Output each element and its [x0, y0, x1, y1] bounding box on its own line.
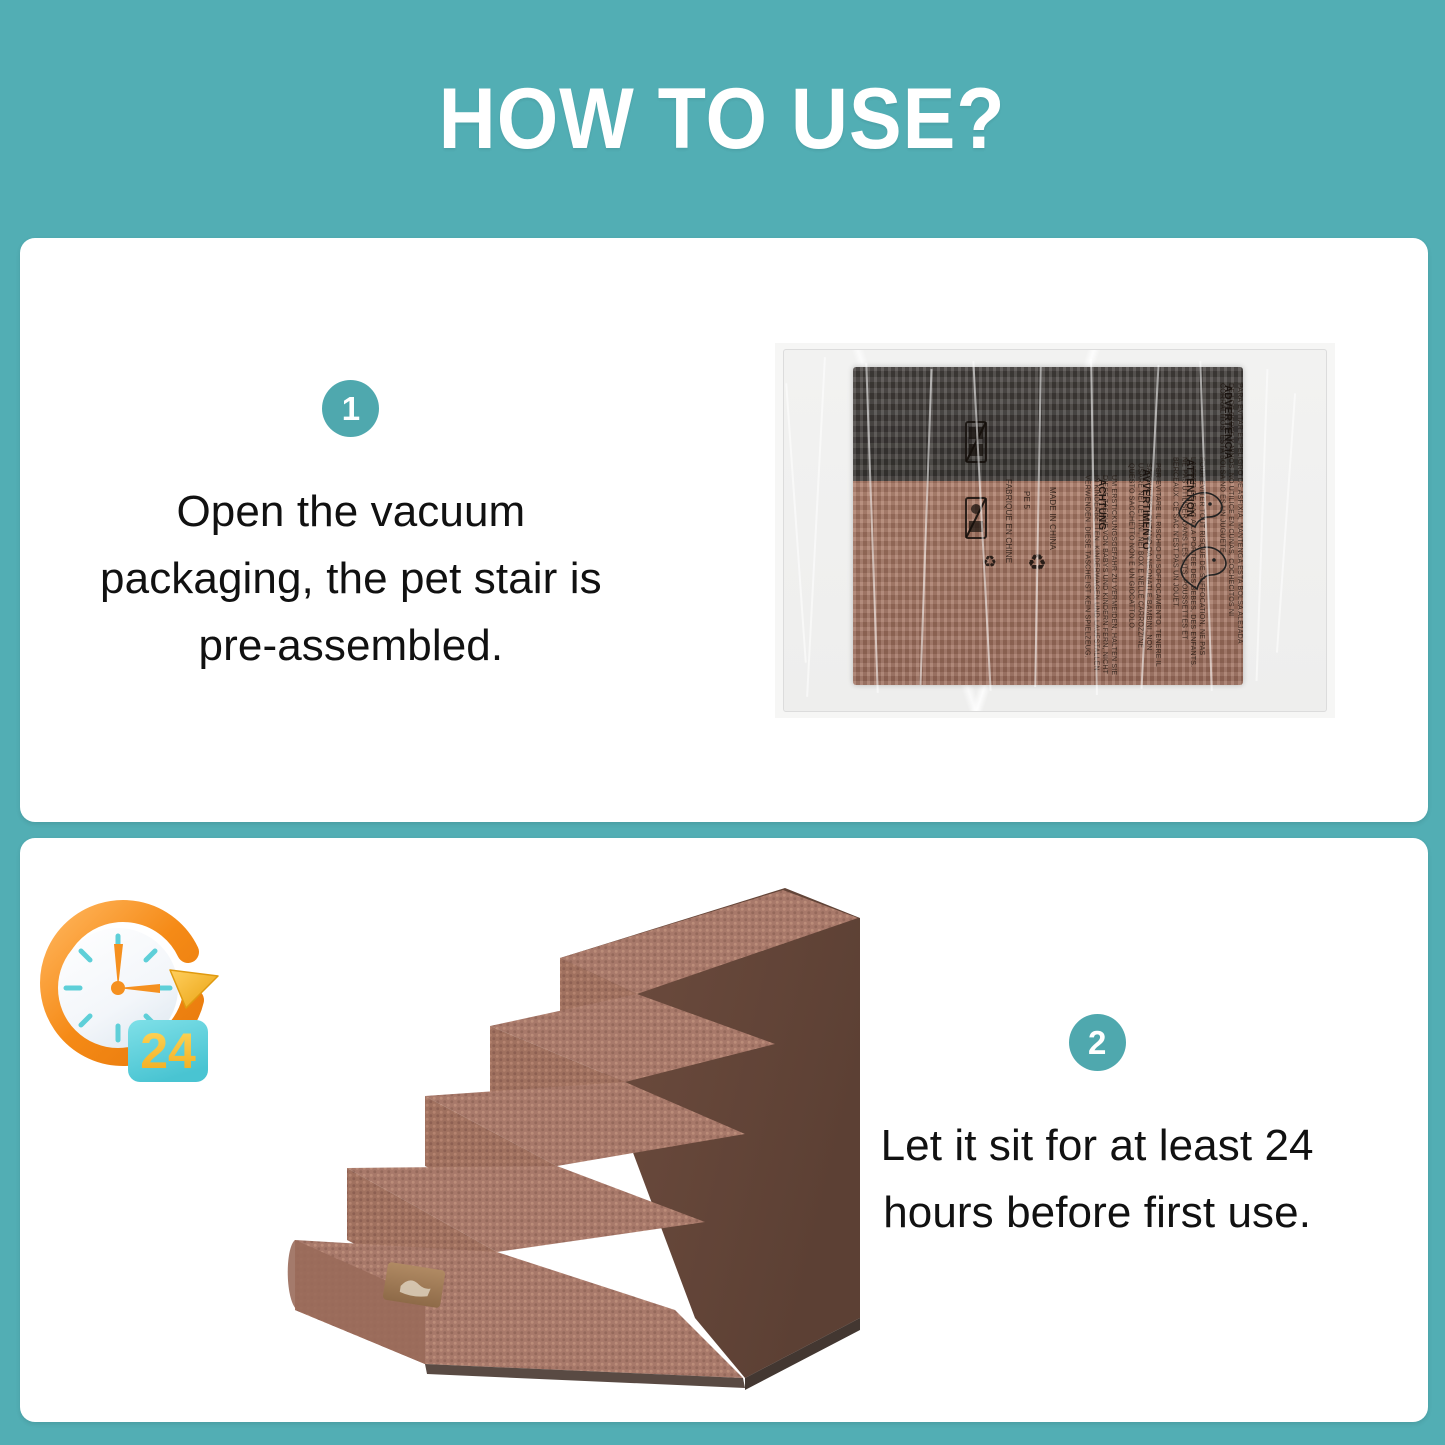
clock-badge-number: 24 — [140, 1023, 196, 1079]
page-title: HOW TO USE? — [439, 76, 1006, 162]
vacuum-package-image: ADVERTENCIA PARA EVITAR EL PELIGRO DE AS… — [775, 343, 1335, 718]
pet-stair-image — [275, 848, 895, 1408]
page-header: HOW TO USE? — [0, 0, 1445, 238]
foam-brown-section — [853, 481, 1243, 685]
step-1-instruction-text: Open the vacuum packaging, the pet stair… — [91, 479, 611, 680]
24-hour-clock-icon: 24 — [30, 898, 230, 1093]
step-2-instruction-text: Let it sit for at least 24 hours before … — [837, 1113, 1357, 1247]
step-number-badge-1: 1 — [322, 380, 379, 437]
step-card-1: 1 Open the vacuum packaging, the pet sta… — [20, 238, 1428, 822]
compressed-foam-block: ADVERTENCIA PARA EVITAR EL PELIGRO DE AS… — [853, 367, 1243, 685]
step-number-badge-2: 2 — [1069, 1014, 1126, 1071]
foam-dark-section — [853, 367, 1243, 481]
step-1-media-column: ADVERTENCIA PARA EVITAR EL PELIGRO DE AS… — [682, 238, 1428, 822]
step-2-media-column: 24 — [20, 838, 766, 1422]
step-card-2: 24 — [20, 838, 1428, 1422]
step-1-text-column: 1 Open the vacuum packaging, the pet sta… — [20, 380, 682, 680]
